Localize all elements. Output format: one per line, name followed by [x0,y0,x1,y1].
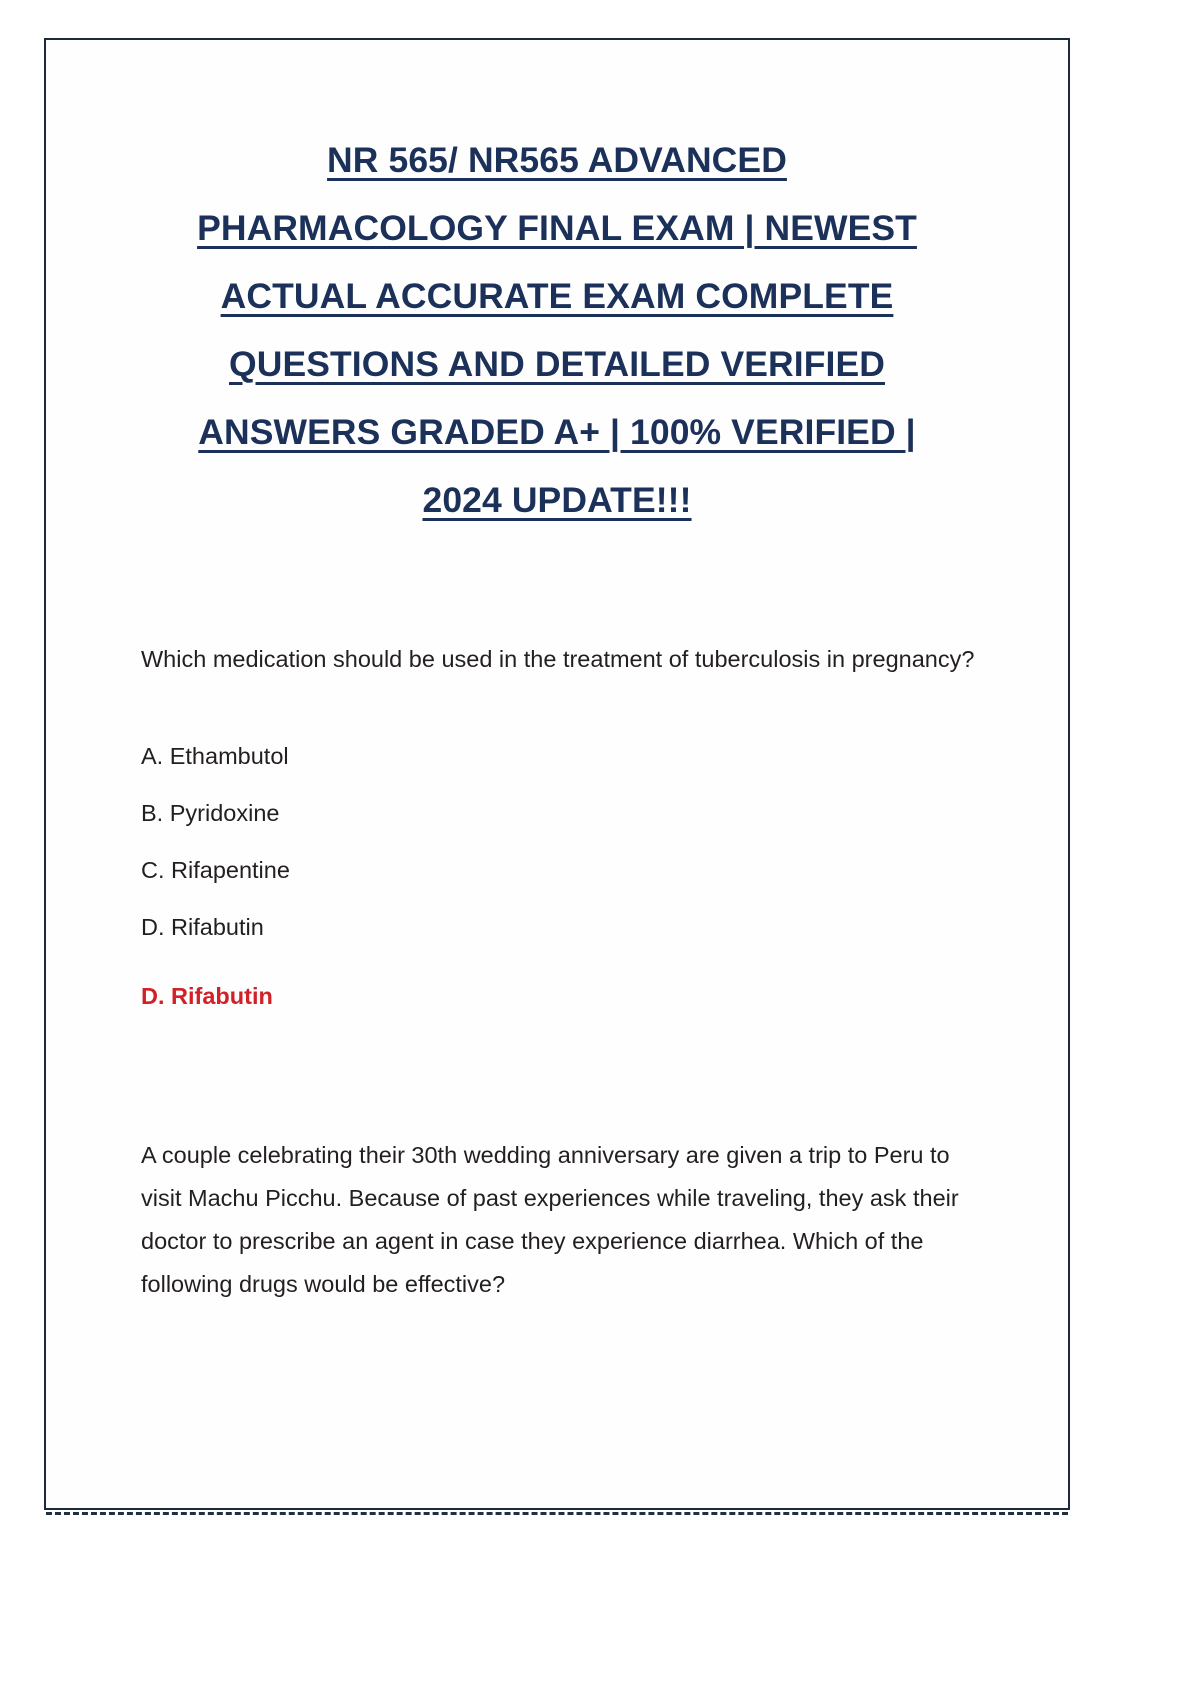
option-c: C. Rifapentine [141,849,979,892]
title-line-4: QUESTIONS AND DETAILED VERIFIED [229,344,885,384]
page-title: NR 565/ NR565 ADVANCED PHARMACOLOGY FINA… [131,126,983,534]
question-1-stem: Which medication should be used in the t… [131,638,983,681]
title-line-5: ANSWERS GRADED A+ | 100% VERIFIED | [198,412,915,452]
option-b: B. Pyridoxine [141,792,979,835]
question-2-stem: A couple celebrating their 30th wedding … [131,1134,983,1306]
option-a: A. Ethambutol [141,735,979,778]
question-1-options: A. Ethambutol B. Pyridoxine C. Rifapenti… [131,735,983,949]
document-sheet: NR 565/ NR565 ADVANCED PHARMACOLOGY FINA… [44,38,1070,1510]
title-line-3: ACTUAL ACCURATE EXAM COMPLETE [221,276,894,316]
title-line-1: NR 565/ NR565 ADVANCED [327,140,787,180]
title-line-2: PHARMACOLOGY FINAL EXAM | NEWEST [197,208,917,248]
document-content: NR 565/ NR565 ADVANCED PHARMACOLOGY FINA… [46,40,1068,1508]
page-bottom-edge [46,1508,1068,1515]
option-d: D. Rifabutin [141,906,979,949]
question-1-answer: D. Rifabutin [131,975,983,1018]
scanned-document-page: NR 565/ NR565 ADVANCED PHARMACOLOGY FINA… [0,0,1200,1700]
title-line-6: 2024 UPDATE!!! [422,480,691,520]
